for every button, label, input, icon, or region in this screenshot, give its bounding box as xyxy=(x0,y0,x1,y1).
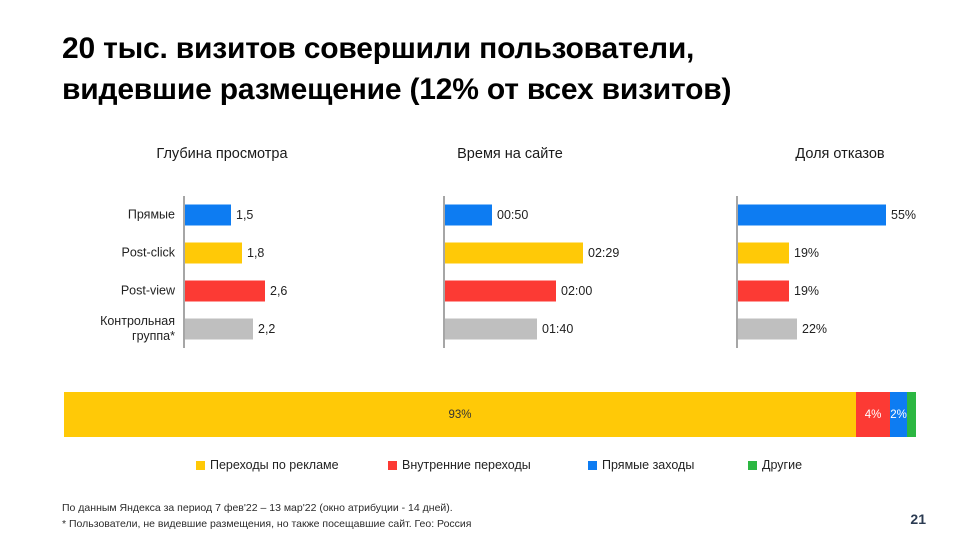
legend-label: Внутренние переходы xyxy=(402,458,531,472)
bar-value: 00:50 xyxy=(497,208,528,222)
chart-title-time: Время на сайте xyxy=(360,146,660,162)
bar-bounce-direct xyxy=(738,205,886,226)
category-label: Post-view xyxy=(121,283,175,298)
chart-row: 00:50 xyxy=(400,196,700,234)
chart-panel-depth: Глубина просмотра Прямые 1,5 Post-click … xyxy=(62,146,382,358)
footnote: По данным Яндекса за период 7 фев'22 – 1… xyxy=(62,500,762,533)
chart-row: 01:40 xyxy=(400,310,700,348)
legend: Переходы по рекламе Внутренние переходы … xyxy=(0,458,974,478)
bar-bounce-control xyxy=(738,319,797,340)
bar-value: 01:40 xyxy=(542,322,573,336)
legend-swatch-icon xyxy=(388,461,397,470)
bar-value: 1,5 xyxy=(236,208,253,222)
legend-item-direct: Прямые заходы xyxy=(588,458,694,472)
chart-row: 02:00 xyxy=(400,272,700,310)
bar-value: 2,2 xyxy=(258,322,275,336)
category-label: Прямые xyxy=(128,207,175,222)
chart-row: Прямые 1,5 xyxy=(62,196,382,234)
bar-value: 55% xyxy=(891,208,916,222)
bar-time-direct xyxy=(445,205,492,226)
title-line-2: видевшие размещение (12% от всех визитов… xyxy=(62,69,942,110)
chart-plot-time: 00:50 02:29 02:00 01:40 xyxy=(400,196,700,348)
page-title: 20 тыс. визитов совершили пользователи, … xyxy=(62,28,942,111)
bar-value: 2,6 xyxy=(270,284,287,298)
chart-plot-depth: Прямые 1,5 Post-click 1,8 Post-view 2,6 … xyxy=(62,196,382,348)
chart-row: 19% xyxy=(700,234,974,272)
page-number: 21 xyxy=(910,511,926,527)
chart-panel-time: Время на сайте 00:50 02:29 02:00 xyxy=(400,146,700,358)
bar-value: 19% xyxy=(794,284,819,298)
bar-value: 22% xyxy=(802,322,827,336)
bar-bounce-postview xyxy=(738,281,789,302)
bar-bounce-postclick xyxy=(738,243,789,264)
stacked-segment-direct: 2% xyxy=(890,392,907,437)
footnote-line-2: * Пользователи, не видевшие размещения, … xyxy=(62,516,762,532)
bar-time-control xyxy=(445,319,537,340)
legend-item-internal: Внутренние переходы xyxy=(388,458,531,472)
category-label: Post-click xyxy=(122,245,175,260)
footnote-line-1: По данным Яндекса за период 7 фев'22 – 1… xyxy=(62,500,762,516)
stacked-segment-other xyxy=(907,392,916,437)
bar-depth-postview xyxy=(185,281,265,302)
chart-panel-bounce: Доля отказов 55% 19% 19% 22% xyxy=(700,146,974,358)
chart-plot-bounce: 55% 19% 19% 22% xyxy=(700,196,974,348)
title-line-1: 20 тыс. визитов совершили пользователи, xyxy=(62,28,942,69)
legend-label: Переходы по рекламе xyxy=(210,458,339,472)
chart-row: 02:29 xyxy=(400,234,700,272)
bar-depth-control xyxy=(185,319,253,340)
bar-value: 02:29 xyxy=(588,246,619,260)
chart-row: 22% xyxy=(700,310,974,348)
chart-title-depth: Глубина просмотра xyxy=(62,146,382,162)
stacked-segment-ads: 93% xyxy=(64,392,856,437)
bar-value: 02:00 xyxy=(561,284,592,298)
chart-row: 19% xyxy=(700,272,974,310)
category-label: Контрольная группа* xyxy=(100,314,175,345)
chart-row: Контрольная группа* 2,2 xyxy=(62,310,382,348)
legend-swatch-icon xyxy=(196,461,205,470)
bar-time-postview xyxy=(445,281,556,302)
chart-row: Post-click 1,8 xyxy=(62,234,382,272)
bar-value: 1,8 xyxy=(247,246,264,260)
stacked-segment-internal: 4% xyxy=(856,392,890,437)
bar-depth-direct xyxy=(185,205,231,226)
legend-label: Другие xyxy=(762,458,802,472)
legend-swatch-icon xyxy=(588,461,597,470)
legend-item-ads: Переходы по рекламе xyxy=(196,458,339,472)
legend-swatch-icon xyxy=(748,461,757,470)
legend-label: Прямые заходы xyxy=(602,458,694,472)
bar-depth-postclick xyxy=(185,243,242,264)
chart-row: Post-view 2,6 xyxy=(62,272,382,310)
legend-item-other: Другие xyxy=(748,458,802,472)
chart-title-bounce: Доля отказов xyxy=(720,146,960,162)
chart-row: 55% xyxy=(700,196,974,234)
stacked-bar-traffic-sources: 93% 4% 2% xyxy=(64,392,916,437)
bar-value: 19% xyxy=(794,246,819,260)
bar-time-postclick xyxy=(445,243,583,264)
charts-row: Глубина просмотра Прямые 1,5 Post-click … xyxy=(0,146,974,358)
slide: 20 тыс. визитов совершили пользователи, … xyxy=(0,0,974,541)
